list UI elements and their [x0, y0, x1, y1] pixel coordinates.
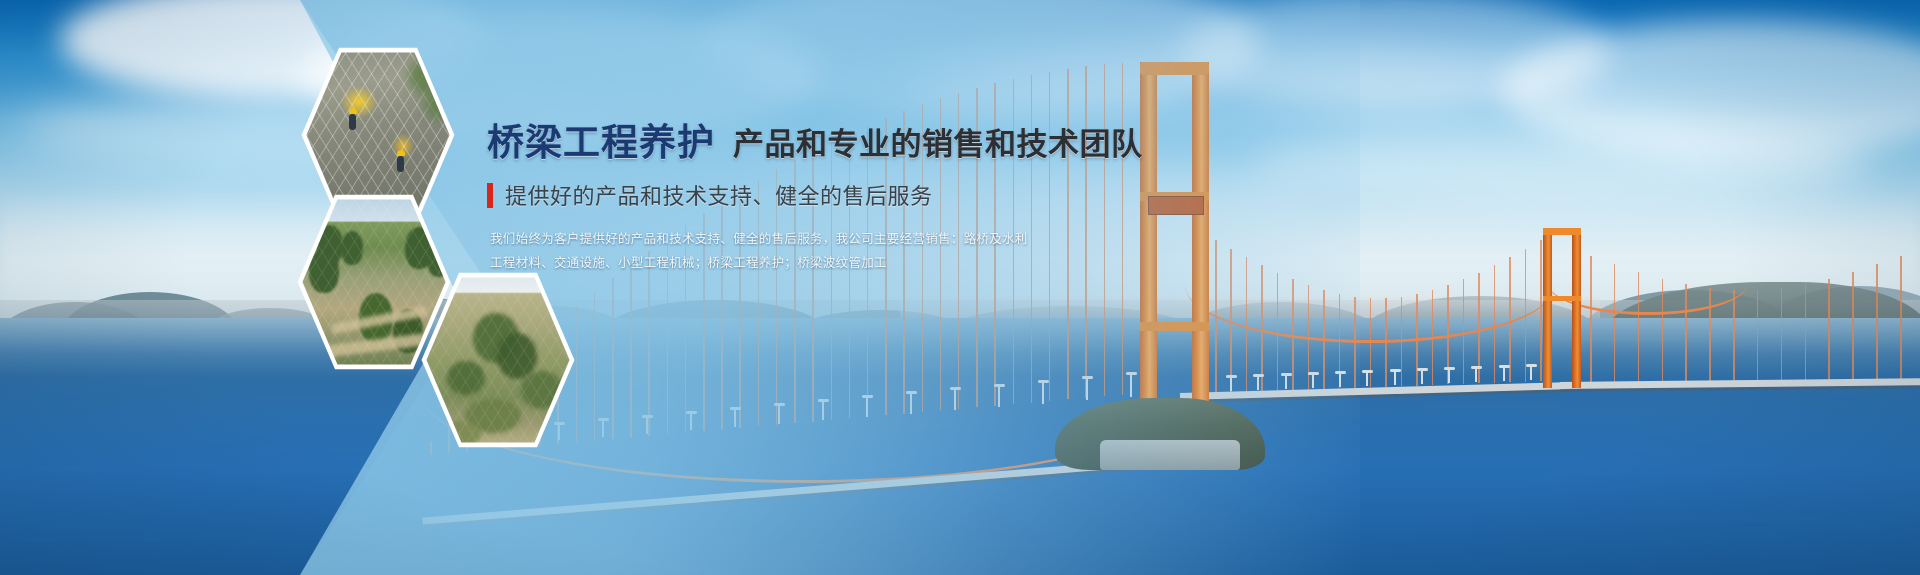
- banner-text-block: 桥梁工程养护 产品和专业的销售和技术团队 提供好的产品和技术支持、健全的售后服务…: [487, 120, 1247, 278]
- deck-lamp: [866, 398, 868, 417]
- description-paragraph: 我们始终为客户提供好的产品和技术支持、健全的售后服务，我公司主要经营销售：路桥及…: [490, 230, 1247, 273]
- deck-lamp: [1475, 369, 1477, 382]
- bridge-hanger: [1852, 272, 1854, 380]
- headline-row: 桥梁工程养护 产品和专业的销售和技术团队: [487, 120, 1247, 166]
- headline-primary: 桥梁工程养护: [487, 120, 715, 166]
- accent-bar-icon: [487, 183, 493, 208]
- bridge-pier-base: [1100, 440, 1240, 470]
- bridge-hanger: [1781, 288, 1783, 380]
- deck-lamp: [1503, 368, 1505, 381]
- headline-secondary: 产品和专业的销售和技术团队: [733, 122, 1143, 168]
- bridge-far-tower-crossbar: [1543, 296, 1581, 301]
- deck-lamp: [602, 421, 604, 437]
- deck-lamp: [690, 414, 692, 431]
- hex-image: [425, 275, 571, 445]
- bridge-far-tower-left-leg: [1543, 228, 1552, 388]
- subtitle-row: 提供好的产品和技术支持、健全的售后服务: [487, 180, 1247, 210]
- description-line-1: 我们始终为客户提供好的产品和技术支持、健全的售后服务，我公司主要经营销售：路桥及…: [490, 230, 1247, 249]
- deck-lamp: [1312, 375, 1314, 388]
- bridge-far-tower-crossbar: [1543, 228, 1581, 235]
- bridge-hanger: [1733, 290, 1735, 381]
- suspension-bridge: [0, 0, 1920, 575]
- deck-lamp: [1421, 371, 1423, 384]
- bridge-hanger: [1828, 279, 1830, 380]
- description-line-2: 工程材料、交通设施、小型工程机械；桥梁工程养护；桥梁波纹管加工: [490, 254, 1247, 273]
- bridge-tower-top-crossbar: [1140, 62, 1209, 75]
- deck-lamp: [1042, 383, 1044, 404]
- bridge-hanger: [1540, 240, 1542, 381]
- netting-mesh-overlay: [425, 275, 571, 445]
- deck-lamp: [1086, 379, 1088, 400]
- deck-lamp: [998, 387, 1000, 407]
- deck-lamp: [910, 394, 912, 413]
- bridge-hanger: [1757, 290, 1759, 381]
- subtitle-text: 提供好的产品和技术支持、健全的售后服务: [505, 179, 933, 211]
- deck-lamp: [822, 402, 824, 420]
- deck-lamp: [646, 418, 648, 434]
- deck-lamp: [954, 390, 956, 410]
- bridge-hanger: [1805, 284, 1807, 380]
- deck-lamp: [1530, 367, 1532, 380]
- deck-lamp: [1257, 377, 1259, 390]
- deck-lamp: [1285, 376, 1287, 389]
- deck-lamp: [778, 406, 780, 424]
- hero-banner: 桥梁工程养护 产品和专业的销售和技术团队 提供好的产品和技术支持、健全的售后服务…: [0, 0, 1920, 575]
- hex-photo-vegetation-slope[interactable]: [420, 270, 576, 450]
- deck-lamp: [1366, 373, 1368, 386]
- deck-lamp: [1448, 370, 1450, 383]
- bridge-hanger: [1876, 264, 1878, 379]
- bridge-hanger: [1900, 256, 1902, 379]
- bridge-far-tower-right-leg: [1572, 228, 1581, 388]
- deck-lamp: [1230, 378, 1232, 391]
- deck-lamp: [734, 410, 736, 427]
- deck-lamp: [1394, 372, 1396, 385]
- bridge-tower-crossbar: [1140, 322, 1209, 331]
- deck-lamp: [1130, 375, 1132, 397]
- deck-lamp: [1339, 374, 1341, 387]
